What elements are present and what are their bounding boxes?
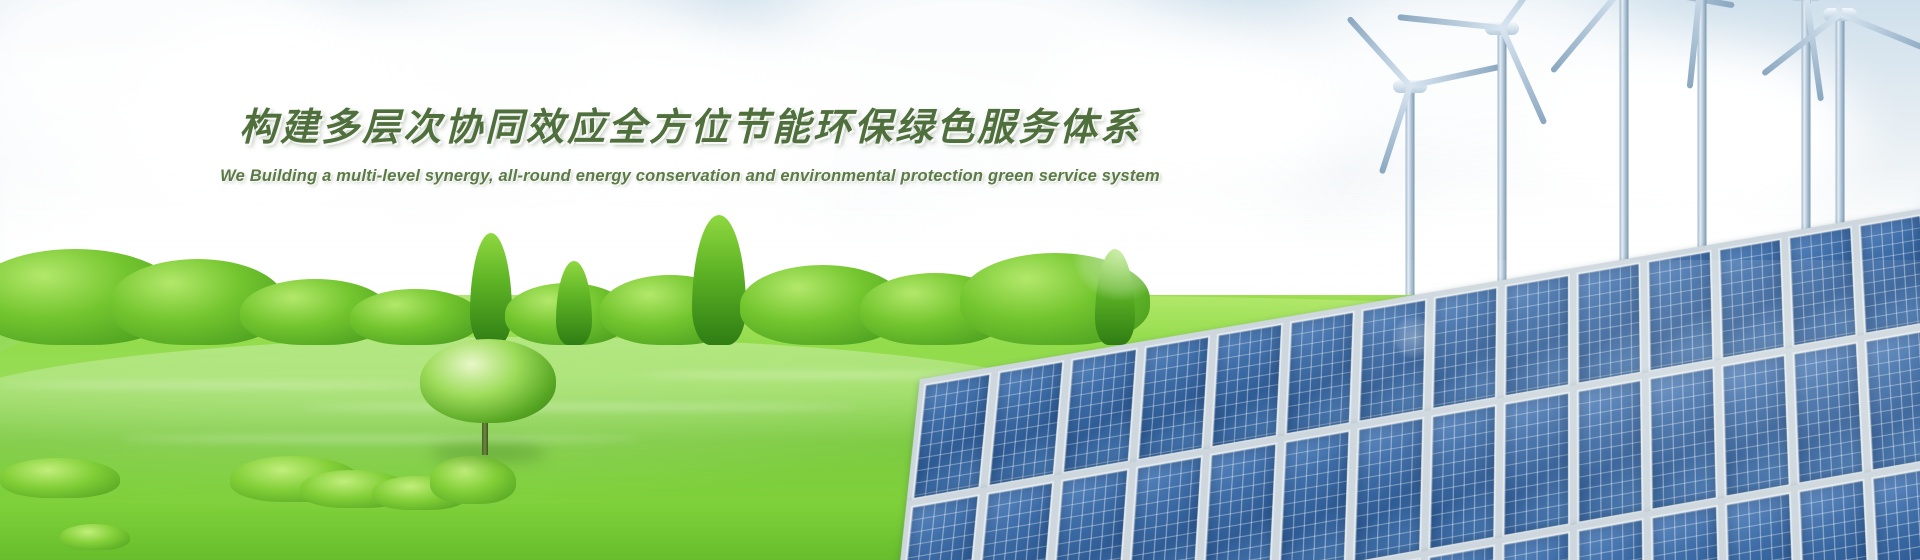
solar-panel (1202, 442, 1277, 560)
solar-panel (1126, 455, 1203, 560)
solar-panel (973, 481, 1054, 560)
cypress-tree (692, 215, 746, 345)
solar-panel (1792, 341, 1863, 484)
solar-panel (1798, 479, 1872, 560)
solar-panel (1428, 404, 1497, 550)
turbine-blade (1839, 11, 1920, 53)
solar-panel (1353, 417, 1424, 560)
solar-panel (1277, 429, 1350, 560)
solar-panel (1788, 226, 1857, 347)
solar-panel (896, 494, 979, 560)
solar-panel (912, 373, 991, 501)
solar-panel (1871, 466, 1920, 560)
solar-panel (1431, 286, 1498, 410)
solar-panel (1210, 323, 1282, 448)
cypress-tree (470, 233, 512, 345)
flowering-tree (412, 335, 562, 455)
tree-line (0, 225, 1150, 345)
tree-shadow (430, 443, 546, 463)
shrub (0, 458, 120, 498)
solar-panel (1050, 468, 1129, 560)
tree-canopy (420, 339, 556, 423)
solar-panel (1358, 298, 1427, 422)
solar-panel (1501, 531, 1570, 560)
shrub (430, 456, 516, 504)
solar-panel (1647, 250, 1714, 372)
solar-panel (1504, 274, 1570, 397)
solar-panel (1284, 311, 1355, 436)
solar-panel (1136, 335, 1210, 461)
page-subtitle: We Building a multi-level synergy, all-r… (0, 167, 1380, 186)
solar-panel (987, 360, 1065, 487)
solar-panel (1576, 379, 1643, 524)
solar-panel (1649, 366, 1718, 511)
solar-panel (1651, 505, 1722, 560)
banner-copy: 构建多层次协同效应全方位节能环保绿色服务体系 We Building a mul… (0, 96, 1380, 186)
solar-panel (1724, 492, 1796, 560)
solar-panel (1502, 391, 1569, 537)
solar-panel (1576, 262, 1642, 385)
solar-panel (1864, 329, 1920, 472)
page-title: 构建多层次协同效应全方位节能环保绿色服务体系 (0, 96, 1380, 151)
shrub (60, 524, 130, 550)
solar-panel (1721, 354, 1791, 498)
solar-panel (1062, 348, 1138, 475)
solar-panel (1576, 518, 1645, 560)
solar-panel (1858, 214, 1920, 335)
hero-banner: 构建多层次协同效应全方位节能环保绿色服务体系 We Building a mul… (0, 0, 1920, 560)
solar-panel (1718, 238, 1786, 360)
turbine-blade (1550, 0, 1627, 74)
